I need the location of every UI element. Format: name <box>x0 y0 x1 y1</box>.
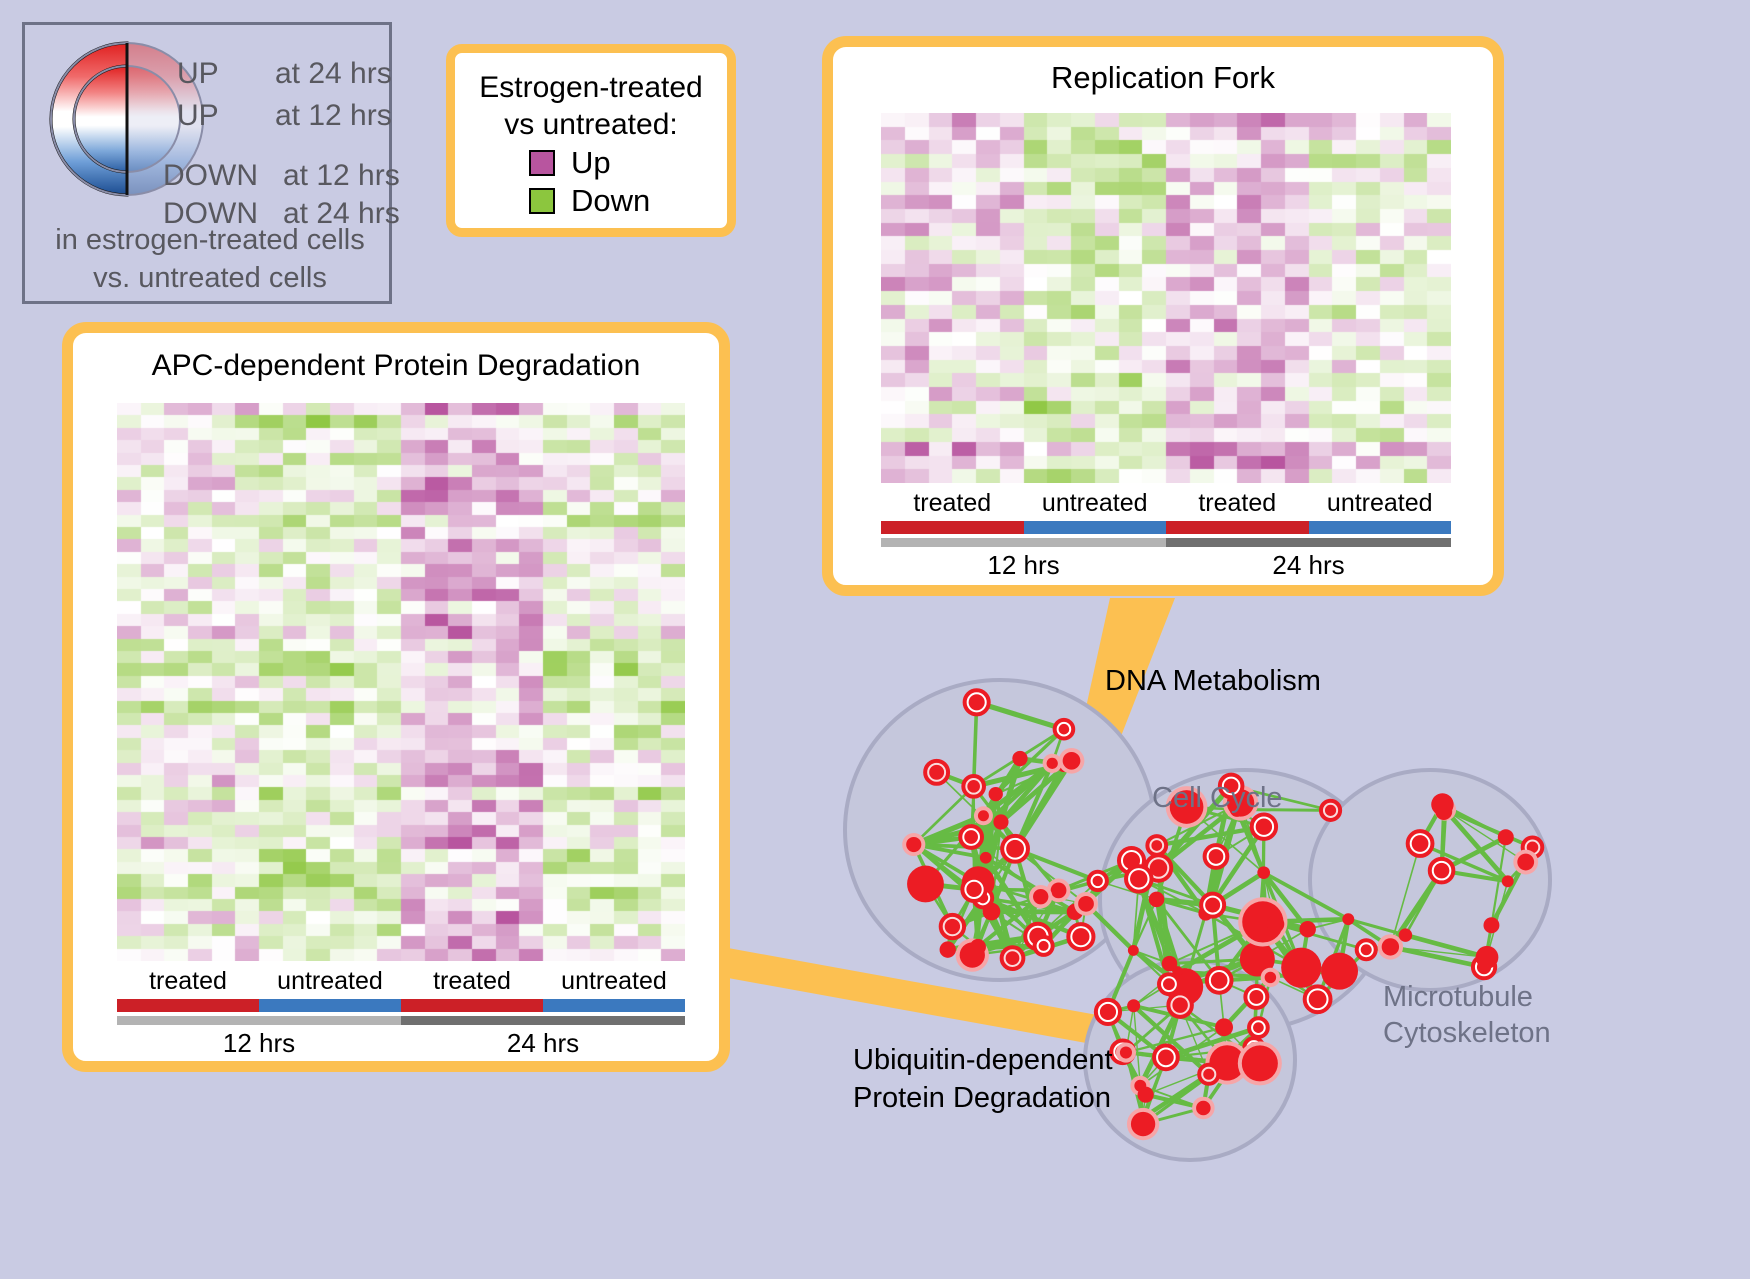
network-node[interactable] <box>1059 724 1070 735</box>
panel-title-replication-fork: Replication Fork <box>833 60 1493 96</box>
cluster-label-protein-degradation: Protein Degradation <box>853 1079 1113 1117</box>
group-bar-rf-treated-24 <box>1166 521 1309 534</box>
network-node[interactable] <box>1006 951 1020 965</box>
group-bar-rf-untreated-24 <box>1309 521 1452 534</box>
network-diagram <box>790 600 1750 1279</box>
key-time-down-12: at 12 hrs <box>283 159 400 193</box>
network-node[interactable] <box>929 765 944 780</box>
time-label-rf-12: 12 hrs <box>881 550 1166 581</box>
time-bar-rf-12 <box>881 538 1166 547</box>
time-color-bar-apc <box>117 1016 685 1025</box>
network-node[interactable] <box>906 837 921 852</box>
network-node[interactable] <box>1211 972 1228 989</box>
network-node[interactable] <box>1130 870 1148 888</box>
legend-item-down: Down <box>529 183 727 219</box>
heatmap-apc-wrap: treated untreated treated untreated 12 h… <box>117 403 685 1059</box>
network-node[interactable] <box>1321 953 1358 990</box>
group-bar-apc-untreated-24 <box>543 999 685 1012</box>
cluster-label-ubiquitin: Ubiquitin-dependent <box>853 1041 1113 1079</box>
network-node[interactable] <box>1051 883 1067 899</box>
heatmap-replication-fork <box>881 113 1451 483</box>
network-node[interactable] <box>1242 1045 1278 1081</box>
network-node[interactable] <box>1412 835 1429 852</box>
group-label-rf-0: treated <box>881 489 1024 518</box>
network-node[interactable] <box>945 919 960 934</box>
network-node[interactable] <box>1498 829 1514 845</box>
network-node[interactable] <box>1205 898 1220 913</box>
panel-title-apc: APC-dependent Protein Degradation <box>73 349 719 383</box>
group-label-apc-2: treated <box>401 967 543 996</box>
network-node[interactable] <box>1476 946 1499 969</box>
network-node[interactable] <box>1299 921 1315 937</box>
network-node[interactable] <box>1399 928 1412 941</box>
network-node[interactable] <box>1033 889 1048 904</box>
key-word-up-12: UP <box>177 99 219 133</box>
network-node[interactable] <box>1267 915 1285 933</box>
network-node[interactable] <box>1281 948 1321 988</box>
cluster-label-microtubule: Microtubule <box>1383 979 1551 1015</box>
up-swatch-icon <box>529 150 555 176</box>
figure-canvas: UP at 24 hrs UP at 12 hrs DOWN at 12 hrs… <box>0 0 1750 1279</box>
network-node[interactable] <box>1163 978 1175 990</box>
down-swatch-icon <box>529 188 555 214</box>
group-label-rf-3: untreated <box>1309 489 1452 518</box>
network-node[interactable] <box>1196 1101 1211 1116</box>
time-label-rf-24: 24 hrs <box>1166 550 1451 581</box>
network-node[interactable] <box>1215 1018 1233 1036</box>
network-node[interactable] <box>1434 863 1450 879</box>
heatmap-replication-fork-wrap: treated untreated treated untreated 12 h… <box>881 113 1451 581</box>
key-time-up-24: at 24 hrs <box>275 57 392 91</box>
group-label-rf-2: treated <box>1166 489 1309 518</box>
network-node[interactable] <box>1309 990 1327 1008</box>
group-bar-apc-treated-24 <box>401 999 543 1012</box>
network-node[interactable] <box>1131 1112 1155 1136</box>
group-color-bar-rf <box>881 521 1451 534</box>
network-node[interactable] <box>969 694 985 710</box>
time-labels-rf: 12 hrs 24 hrs <box>881 550 1451 581</box>
network-node[interactable] <box>1093 876 1103 886</box>
network-node[interactable] <box>1249 990 1263 1004</box>
group-label-apc-0: treated <box>117 967 259 996</box>
cluster-label-ubiquitin-protein-degradation: Ubiquitin-dependent Protein Degradation <box>853 1041 1113 1117</box>
key-footer-line2: vs. untreated cells <box>25 259 395 297</box>
group-bar-apc-untreated-12 <box>259 999 401 1012</box>
network-node[interactable] <box>1172 966 1183 977</box>
key-footer: in estrogen-treated cells vs. untreated … <box>25 221 395 297</box>
network-node[interactable] <box>907 866 944 903</box>
network-node[interactable] <box>1256 819 1272 835</box>
color-key-box: UP at 24 hrs UP at 12 hrs DOWN at 12 hrs… <box>22 22 392 304</box>
network-node[interactable] <box>1039 941 1049 951</box>
network-node[interactable] <box>970 939 986 955</box>
time-label-apc-12: 12 hrs <box>117 1028 401 1059</box>
group-bar-rf-treated-12 <box>881 521 1024 534</box>
network-node[interactable] <box>1006 840 1024 858</box>
group-color-bar-apc <box>117 999 685 1012</box>
network-node[interactable] <box>1325 805 1336 816</box>
network-node[interactable] <box>1078 896 1094 912</box>
cluster-label-cytoskeleton: Cytoskeleton <box>1383 1015 1551 1051</box>
network-node[interactable] <box>1172 997 1187 1012</box>
time-bar-rf-24 <box>1166 538 1451 547</box>
legend-title-line1: Estrogen-treated <box>455 69 727 106</box>
time-label-apc-24: 24 hrs <box>401 1028 685 1059</box>
network-node[interactable] <box>1072 928 1089 945</box>
key-word-down-12: DOWN <box>163 159 258 193</box>
network-node[interactable] <box>1149 892 1165 908</box>
network-node[interactable] <box>1128 945 1139 956</box>
network-node[interactable] <box>1047 758 1058 769</box>
time-color-bar-rf <box>881 538 1451 547</box>
heatmap-apc <box>117 403 685 961</box>
cluster-label-dna-metabolism: DNA Metabolism <box>1105 665 1321 698</box>
network-node[interactable] <box>1265 972 1276 983</box>
network-node[interactable] <box>964 830 978 844</box>
group-bar-rf-untreated-12 <box>1024 521 1167 534</box>
network-node[interactable] <box>1209 849 1224 864</box>
key-word-up-24: UP <box>177 57 219 91</box>
cluster-label-microtubule-cytoskeleton: Microtubule Cytoskeleton <box>1383 979 1551 1051</box>
network-node[interactable] <box>1361 944 1372 955</box>
axis-group-labels-apc: treated untreated treated untreated <box>117 967 685 996</box>
network-node[interactable] <box>1158 1050 1174 1066</box>
network-node[interactable] <box>1253 1022 1264 1033</box>
time-labels-apc: 12 hrs 24 hrs <box>117 1028 685 1059</box>
network-node[interactable] <box>1151 840 1162 851</box>
network-node[interactable] <box>1120 1046 1132 1058</box>
group-label-rf-1: untreated <box>1024 489 1167 518</box>
panel-replication-fork: Replication Fork treated untreated treat… <box>822 36 1504 596</box>
network-node[interactable] <box>1012 751 1027 766</box>
time-bar-apc-24 <box>401 1016 685 1025</box>
group-bar-apc-treated-12 <box>117 999 259 1012</box>
legend-title: Estrogen-treated vs untreated: <box>455 69 727 143</box>
network-node[interactable] <box>980 852 992 864</box>
legend-title-line2: vs untreated: <box>455 106 727 143</box>
legend-label-up: Up <box>571 145 611 181</box>
legend-label-down: Down <box>571 183 650 219</box>
group-label-apc-1: untreated <box>259 967 401 996</box>
network-node[interactable] <box>1100 1004 1116 1020</box>
network-node[interactable] <box>1127 999 1140 1012</box>
network-node[interactable] <box>1483 917 1499 933</box>
network-node[interactable] <box>1342 913 1354 925</box>
network-node[interactable] <box>1382 938 1399 955</box>
key-time-up-12: at 12 hrs <box>275 99 392 133</box>
time-bar-apc-12 <box>117 1016 401 1025</box>
network-node[interactable] <box>1063 752 1081 770</box>
legend-item-up: Up <box>529 145 727 181</box>
network-node[interactable] <box>1502 875 1514 887</box>
updown-legend-card: Estrogen-treated vs untreated: Up Down <box>446 44 736 237</box>
network-node[interactable] <box>1257 866 1270 879</box>
panel-apc-protein-degradation: APC-dependent Protein Degradation treate… <box>62 322 730 1072</box>
axis-group-labels-rf: treated untreated treated untreated <box>881 489 1451 518</box>
network-node[interactable] <box>993 814 1008 829</box>
network-node[interactable] <box>989 787 1003 801</box>
cluster-label-cell-cycle: Cell Cycle <box>1152 782 1283 815</box>
key-footer-line1: in estrogen-treated cells <box>25 221 395 259</box>
network-node[interactable] <box>967 780 980 793</box>
group-label-apc-3: untreated <box>543 967 685 996</box>
network-node[interactable] <box>1517 854 1534 871</box>
network-node[interactable] <box>966 882 981 897</box>
network-node[interactable] <box>1138 1087 1154 1103</box>
network-node[interactable] <box>1431 793 1453 815</box>
network-node[interactable] <box>978 810 989 821</box>
network-node[interactable] <box>1203 1069 1214 1080</box>
network-node[interactable] <box>940 941 956 957</box>
